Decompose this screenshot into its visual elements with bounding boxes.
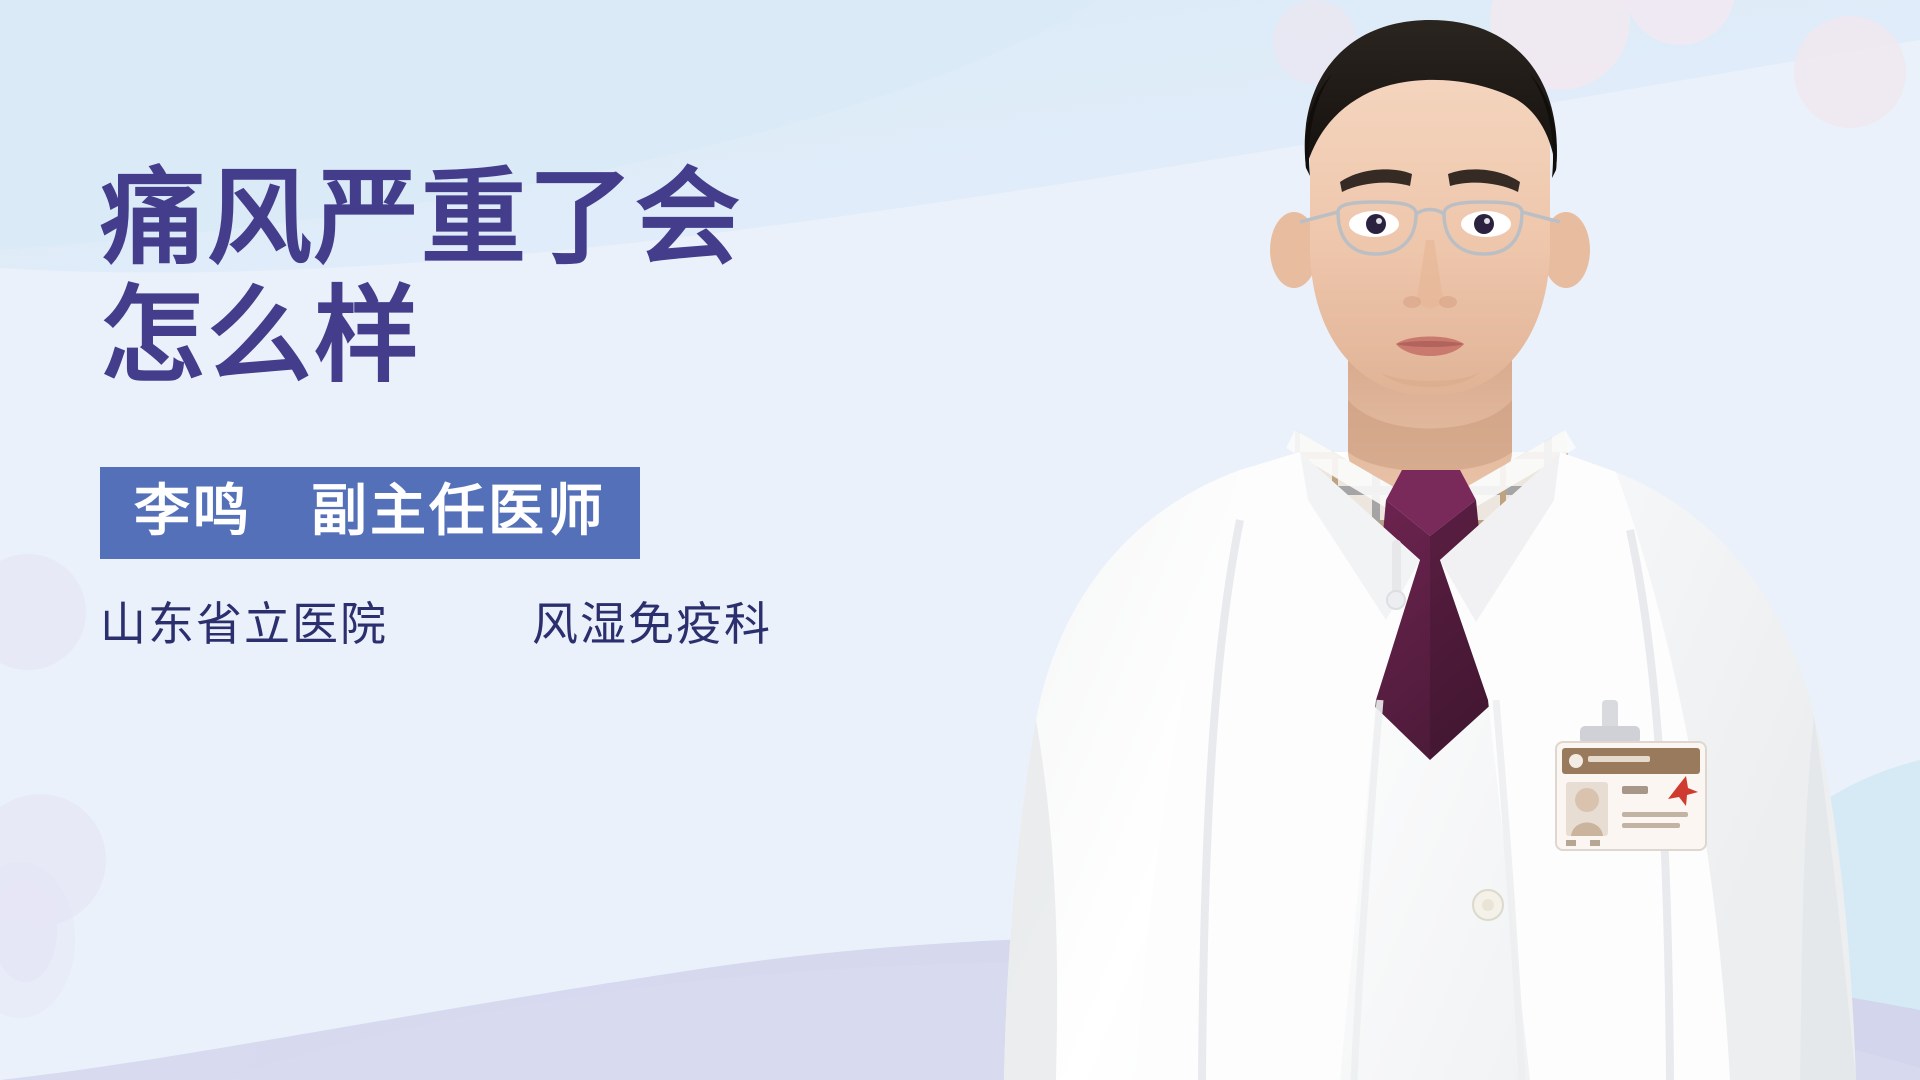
doctor-name-badge: 李鸣 副主任医师 <box>100 467 640 559</box>
thumbnail-canvas: 痛风严重了会怎么样 李鸣 副主任医师 山东省立医院 风湿免疫科 <box>0 0 1920 1080</box>
doctor-portrait <box>940 0 1920 1080</box>
badge-name-text <box>1622 786 1648 794</box>
doctor-portrait-svg <box>940 0 1920 1080</box>
doctor-head <box>1270 20 1590 396</box>
page-title: 痛风严重了会怎么样 <box>100 160 980 395</box>
badge-logo-icon <box>1569 754 1583 768</box>
doctor-affiliation: 山东省立医院 风湿免疫科 <box>100 599 980 650</box>
title-block: 痛风严重了会怎么样 李鸣 副主任医师 山东省立医院 风湿免疫科 <box>100 160 980 650</box>
title-line-1: 痛风严重了会 <box>100 160 742 277</box>
title-line-2: 怎么样 <box>100 278 980 396</box>
badge-header-text <box>1588 756 1650 762</box>
